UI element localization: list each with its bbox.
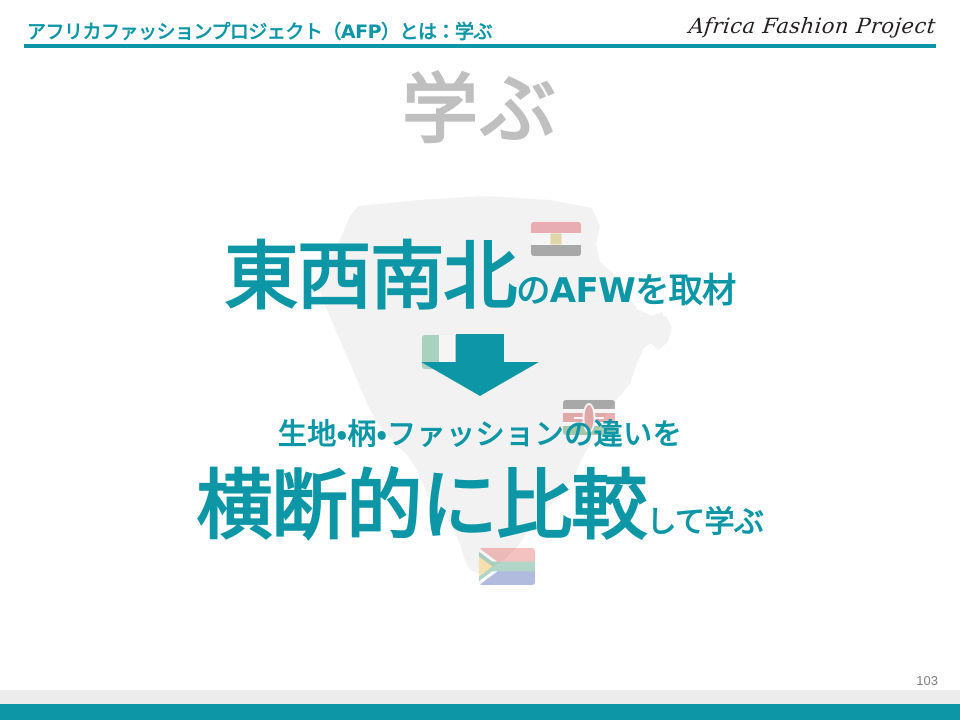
down-arrow-icon: [421, 334, 539, 396]
line1-suffix: のAFWを取材: [516, 271, 736, 311]
brand-logo: Africa Fashion Project: [688, 14, 937, 38]
content-line-1: 東西南北のAFWを取材: [0, 240, 960, 314]
content-line-2: 生地・柄・ファッションの違いを: [0, 420, 960, 449]
content-line-3: 横断的に比較して学ぶ: [0, 468, 960, 544]
footer-accent-bar: [0, 704, 960, 720]
header-title: アフリカファッションプロジェクト（AFP）とは：学ぶ: [27, 17, 492, 44]
down-arrow-container: [0, 334, 960, 401]
slide-header: アフリカファッションプロジェクト（AFP）とは：学ぶ Africa Fashio…: [0, 0, 960, 52]
section-heading: 学ぶ: [0, 72, 960, 148]
header-divider: [24, 44, 936, 48]
page-number: 103: [916, 673, 938, 688]
slide-canvas: アフリカファッションプロジェクト（AFP）とは：学ぶ Africa Fashio…: [0, 0, 960, 720]
line3-suffix: して学ぶ: [646, 505, 763, 540]
south-africa-flag: [479, 548, 535, 585]
line3-emphasis: 横断的に比較: [196, 461, 646, 550]
footer-gray-band: [0, 690, 960, 704]
line1-emphasis: 東西南北: [224, 234, 516, 320]
